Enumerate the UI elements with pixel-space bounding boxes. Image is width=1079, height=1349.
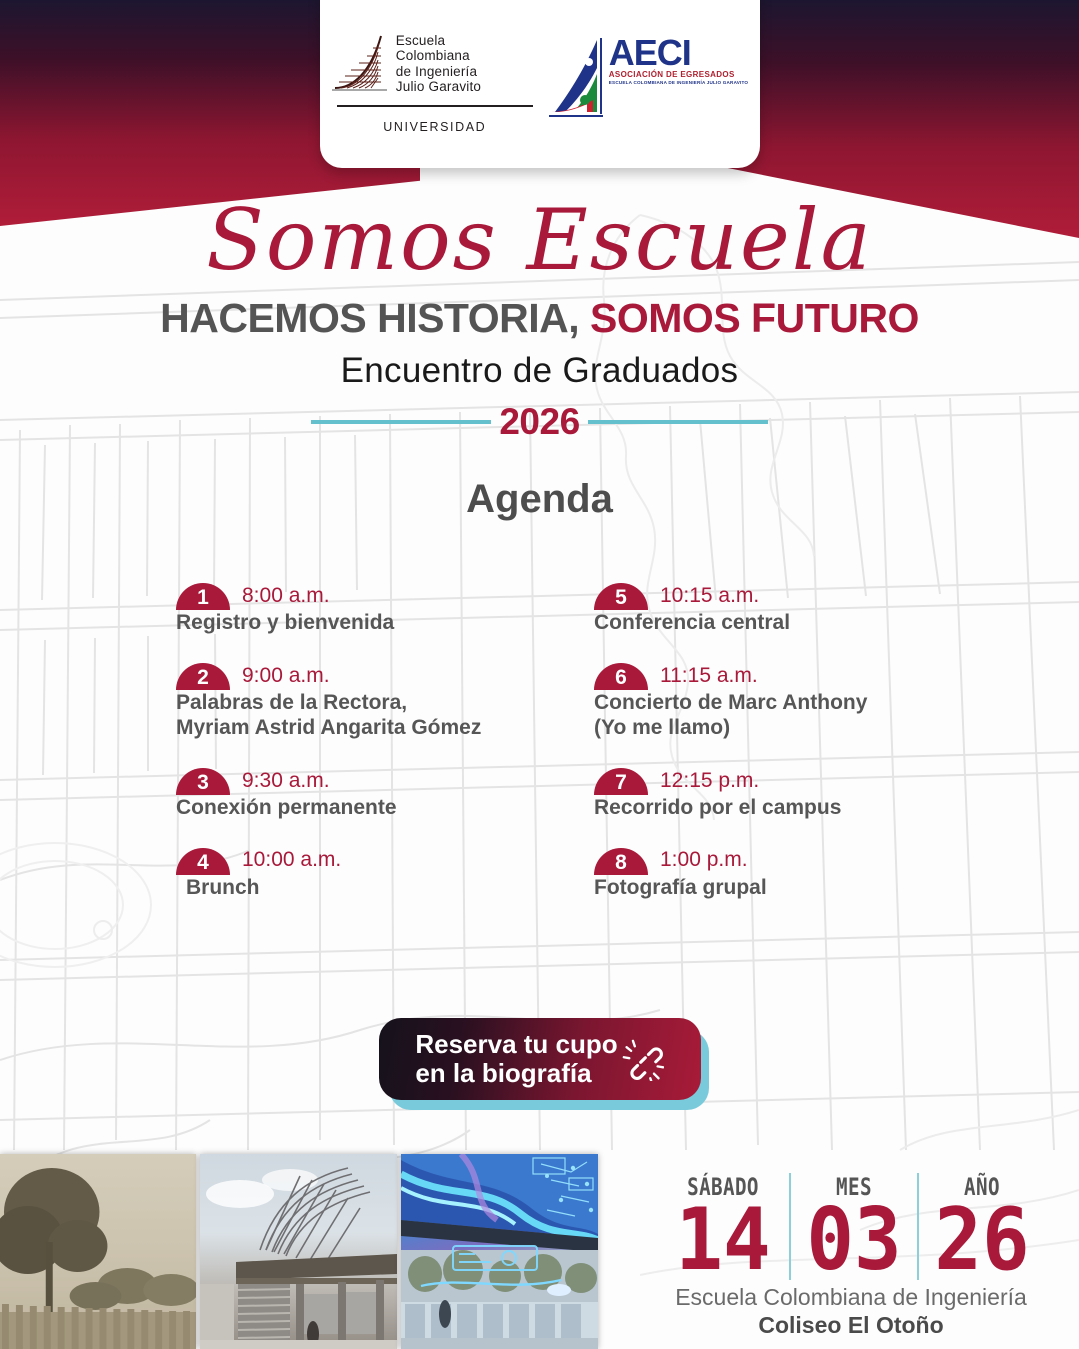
eci-curve-mark [331, 32, 389, 94]
agenda-number-badge: 5 [594, 583, 648, 610]
script-title: Somos Escuela [0, 198, 1079, 282]
agenda-time: 12:15 p.m. [660, 767, 759, 795]
agenda-item: 2 9:00 a.m. Palabras de la Rectora, Myri… [176, 662, 594, 741]
event-date-block: SÁBADO 14 MES 03 AÑO 26 Escuela Colombia… [641, 1173, 1061, 1339]
event-year: 2026 [491, 401, 587, 443]
date-value: 03 [802, 1201, 907, 1280]
agenda-description: Brunch [176, 876, 594, 900]
agenda-description: Recorrido por el campus [594, 796, 1019, 820]
photo-strip [0, 1154, 598, 1349]
agenda-grid: 1 8:00 a.m. Registro y bienvenida 2 9:00… [0, 582, 1079, 926]
aeci-logo: AECI ASOCIACIÓN DE EGRESADOS ESCUELA COL… [549, 38, 748, 122]
event-subtitle: Encuentro de Graduados [0, 351, 1079, 391]
link-chain-icon [622, 1039, 664, 1081]
agenda-time: 11:15 a.m. [660, 662, 758, 690]
agenda-description-2: Myriam Astrid Angarita Gómez [176, 716, 594, 740]
agenda-description: Fotografía grupal [594, 876, 1019, 900]
logo-card: Escuela Colombiana de Ingeniería Julio G… [320, 0, 760, 168]
agenda-item: 7 12:15 p.m. Recorrido por el campus [594, 767, 1019, 821]
photo-vintage-campus [0, 1154, 196, 1349]
date-column-day: SÁBADO 14 [657, 1173, 789, 1280]
year-row: 2026 [0, 401, 1079, 443]
agenda-heading: Agenda [0, 477, 1079, 522]
agenda-number-badge: 1 [176, 583, 230, 610]
agenda-description: Concierto de Marc Anthony [594, 691, 1019, 715]
agenda-time: 10:00 a.m. [242, 846, 341, 874]
cta-label: Reserva tu cupo en la biografía [415, 1030, 617, 1088]
headline-block: Somos Escuela HACEMOS HISTORIA, SOMOS FU… [0, 198, 1079, 522]
agenda-description: Palabras de la Rectora, [176, 691, 594, 715]
date-column-year: AÑO 26 [917, 1173, 1045, 1280]
aeci-subtitle-2: ESCUELA COLOMBIANA DE INGENIERÍA JULIO G… [609, 80, 748, 85]
agenda-time: 8:00 a.m. [242, 582, 330, 610]
agenda-time: 9:00 a.m. [242, 662, 330, 690]
date-column-month: MES 03 [789, 1173, 917, 1280]
eci-line3: de Ingeniería [396, 64, 481, 79]
agenda-description: Conferencia central [594, 611, 1019, 635]
eci-line4: Julio Garavito [396, 79, 481, 94]
eci-line1: Escuela [396, 33, 481, 48]
agenda-item: 3 9:30 a.m. Conexión permanente [176, 767, 594, 821]
agenda-description: Registro y bienvenida [176, 611, 594, 635]
agenda-item: 6 11:15 a.m. Concierto de Marc Anthony (… [594, 662, 1019, 741]
tagline-part-red: SOMOS FUTURO [590, 295, 919, 341]
date-value: 14 [668, 1201, 778, 1280]
eci-tagline: UNIVERSIDAD [337, 120, 533, 134]
agenda-item: 5 10:15 a.m. Conferencia central [594, 582, 1019, 636]
agenda-number-badge: 2 [176, 663, 230, 690]
reserve-spot-button[interactable]: Reserva tu cupo en la biografía [379, 1018, 701, 1100]
date-value: 26 [930, 1201, 1035, 1280]
year-rule-right [588, 420, 768, 424]
aeci-swoosh-icon [549, 38, 605, 122]
eci-university-logo: Escuela Colombiana de Ingeniería Julio G… [331, 32, 533, 133]
eci-wordmark: Escuela Colombiana de Ingeniería Julio G… [396, 33, 481, 95]
agenda-time: 10:15 a.m. [660, 582, 759, 610]
agenda-number-badge: 4 [176, 848, 230, 875]
photo-modern-campus [200, 1154, 397, 1349]
agenda-number-badge: 3 [176, 768, 230, 795]
agenda-item: 1 8:00 a.m. Registro y bienvenida [176, 582, 594, 636]
cta-line-1: Reserva tu cupo [415, 1029, 617, 1059]
agenda-time: 9:30 a.m. [242, 767, 330, 795]
agenda-description-2: (Yo me llamo) [594, 716, 1019, 740]
agenda-item: 8 1:00 p.m. Fotografía grupal [594, 846, 1019, 900]
cta-wrapper: Reserva tu cupo en la biografía [379, 1018, 701, 1100]
agenda-number-badge: 7 [594, 768, 648, 795]
tagline-bold: HACEMOS HISTORIA, SOMOS FUTURO [0, 298, 1079, 339]
tagline-part-grey: HACEMOS HISTORIA, [160, 295, 579, 341]
cta-line-2: en la biografía [415, 1058, 591, 1088]
photo-future-campus [401, 1154, 598, 1349]
agenda-column-left: 1 8:00 a.m. Registro y bienvenida 2 9:00… [176, 582, 594, 926]
venue-line-2: Coliseo El Otoño [641, 1312, 1061, 1339]
agenda-number-badge: 6 [594, 663, 648, 690]
agenda-number-badge: 8 [594, 848, 648, 875]
agenda-time: 1:00 p.m. [660, 846, 748, 874]
agenda-column-right: 5 10:15 a.m. Conferencia central 6 11:15… [594, 582, 1019, 926]
agenda-description: Conexión permanente [176, 796, 594, 820]
aeci-wordmark: AECI [609, 38, 748, 68]
year-rule-left [311, 420, 491, 424]
aeci-subtitle-1: ASOCIACIÓN DE EGRESADOS [609, 70, 748, 79]
eci-line2: Colombiana [396, 48, 481, 63]
eci-divider [337, 105, 533, 106]
agenda-item: 4 10:00 a.m. Brunch [176, 846, 594, 900]
